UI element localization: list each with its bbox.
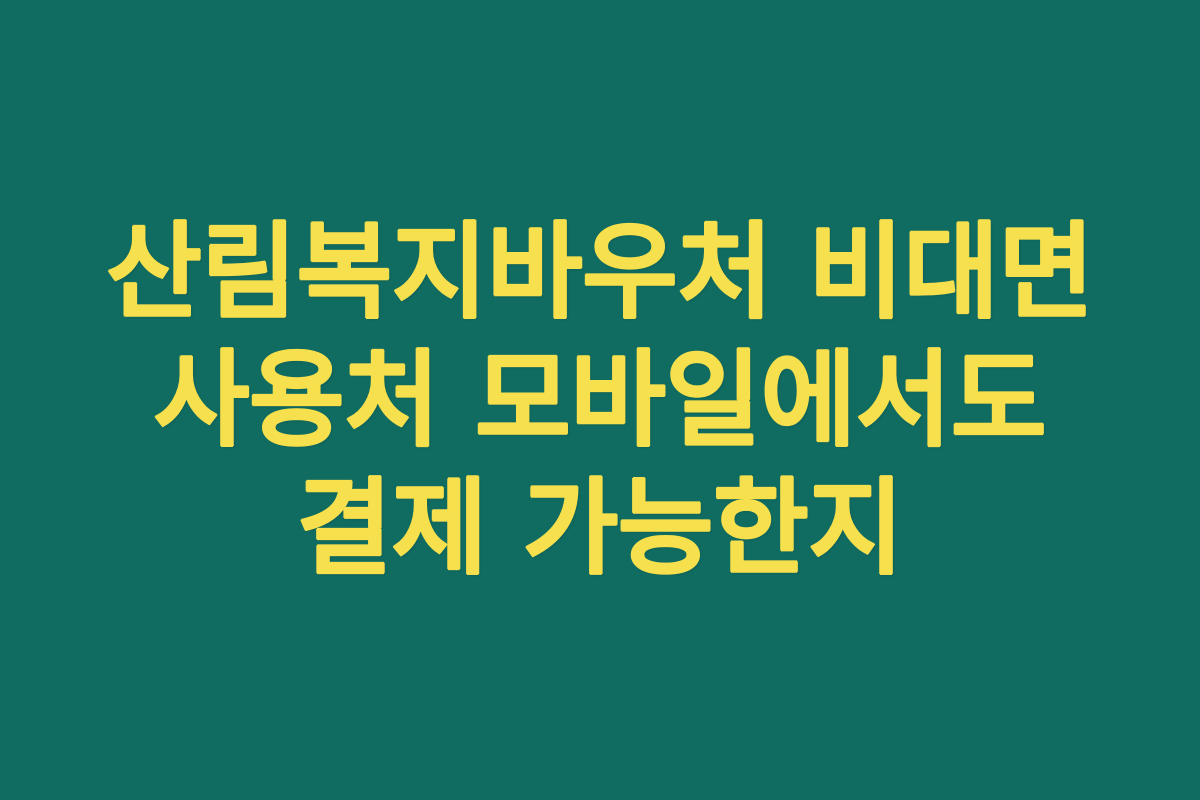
text-card: 산림복지바우처 비대면 사용처 모바일에서도 결제 가능한지 xyxy=(0,0,1200,800)
headline-text: 산림복지바우처 비대면 사용처 모바일에서도 결제 가능한지 xyxy=(95,208,1105,592)
